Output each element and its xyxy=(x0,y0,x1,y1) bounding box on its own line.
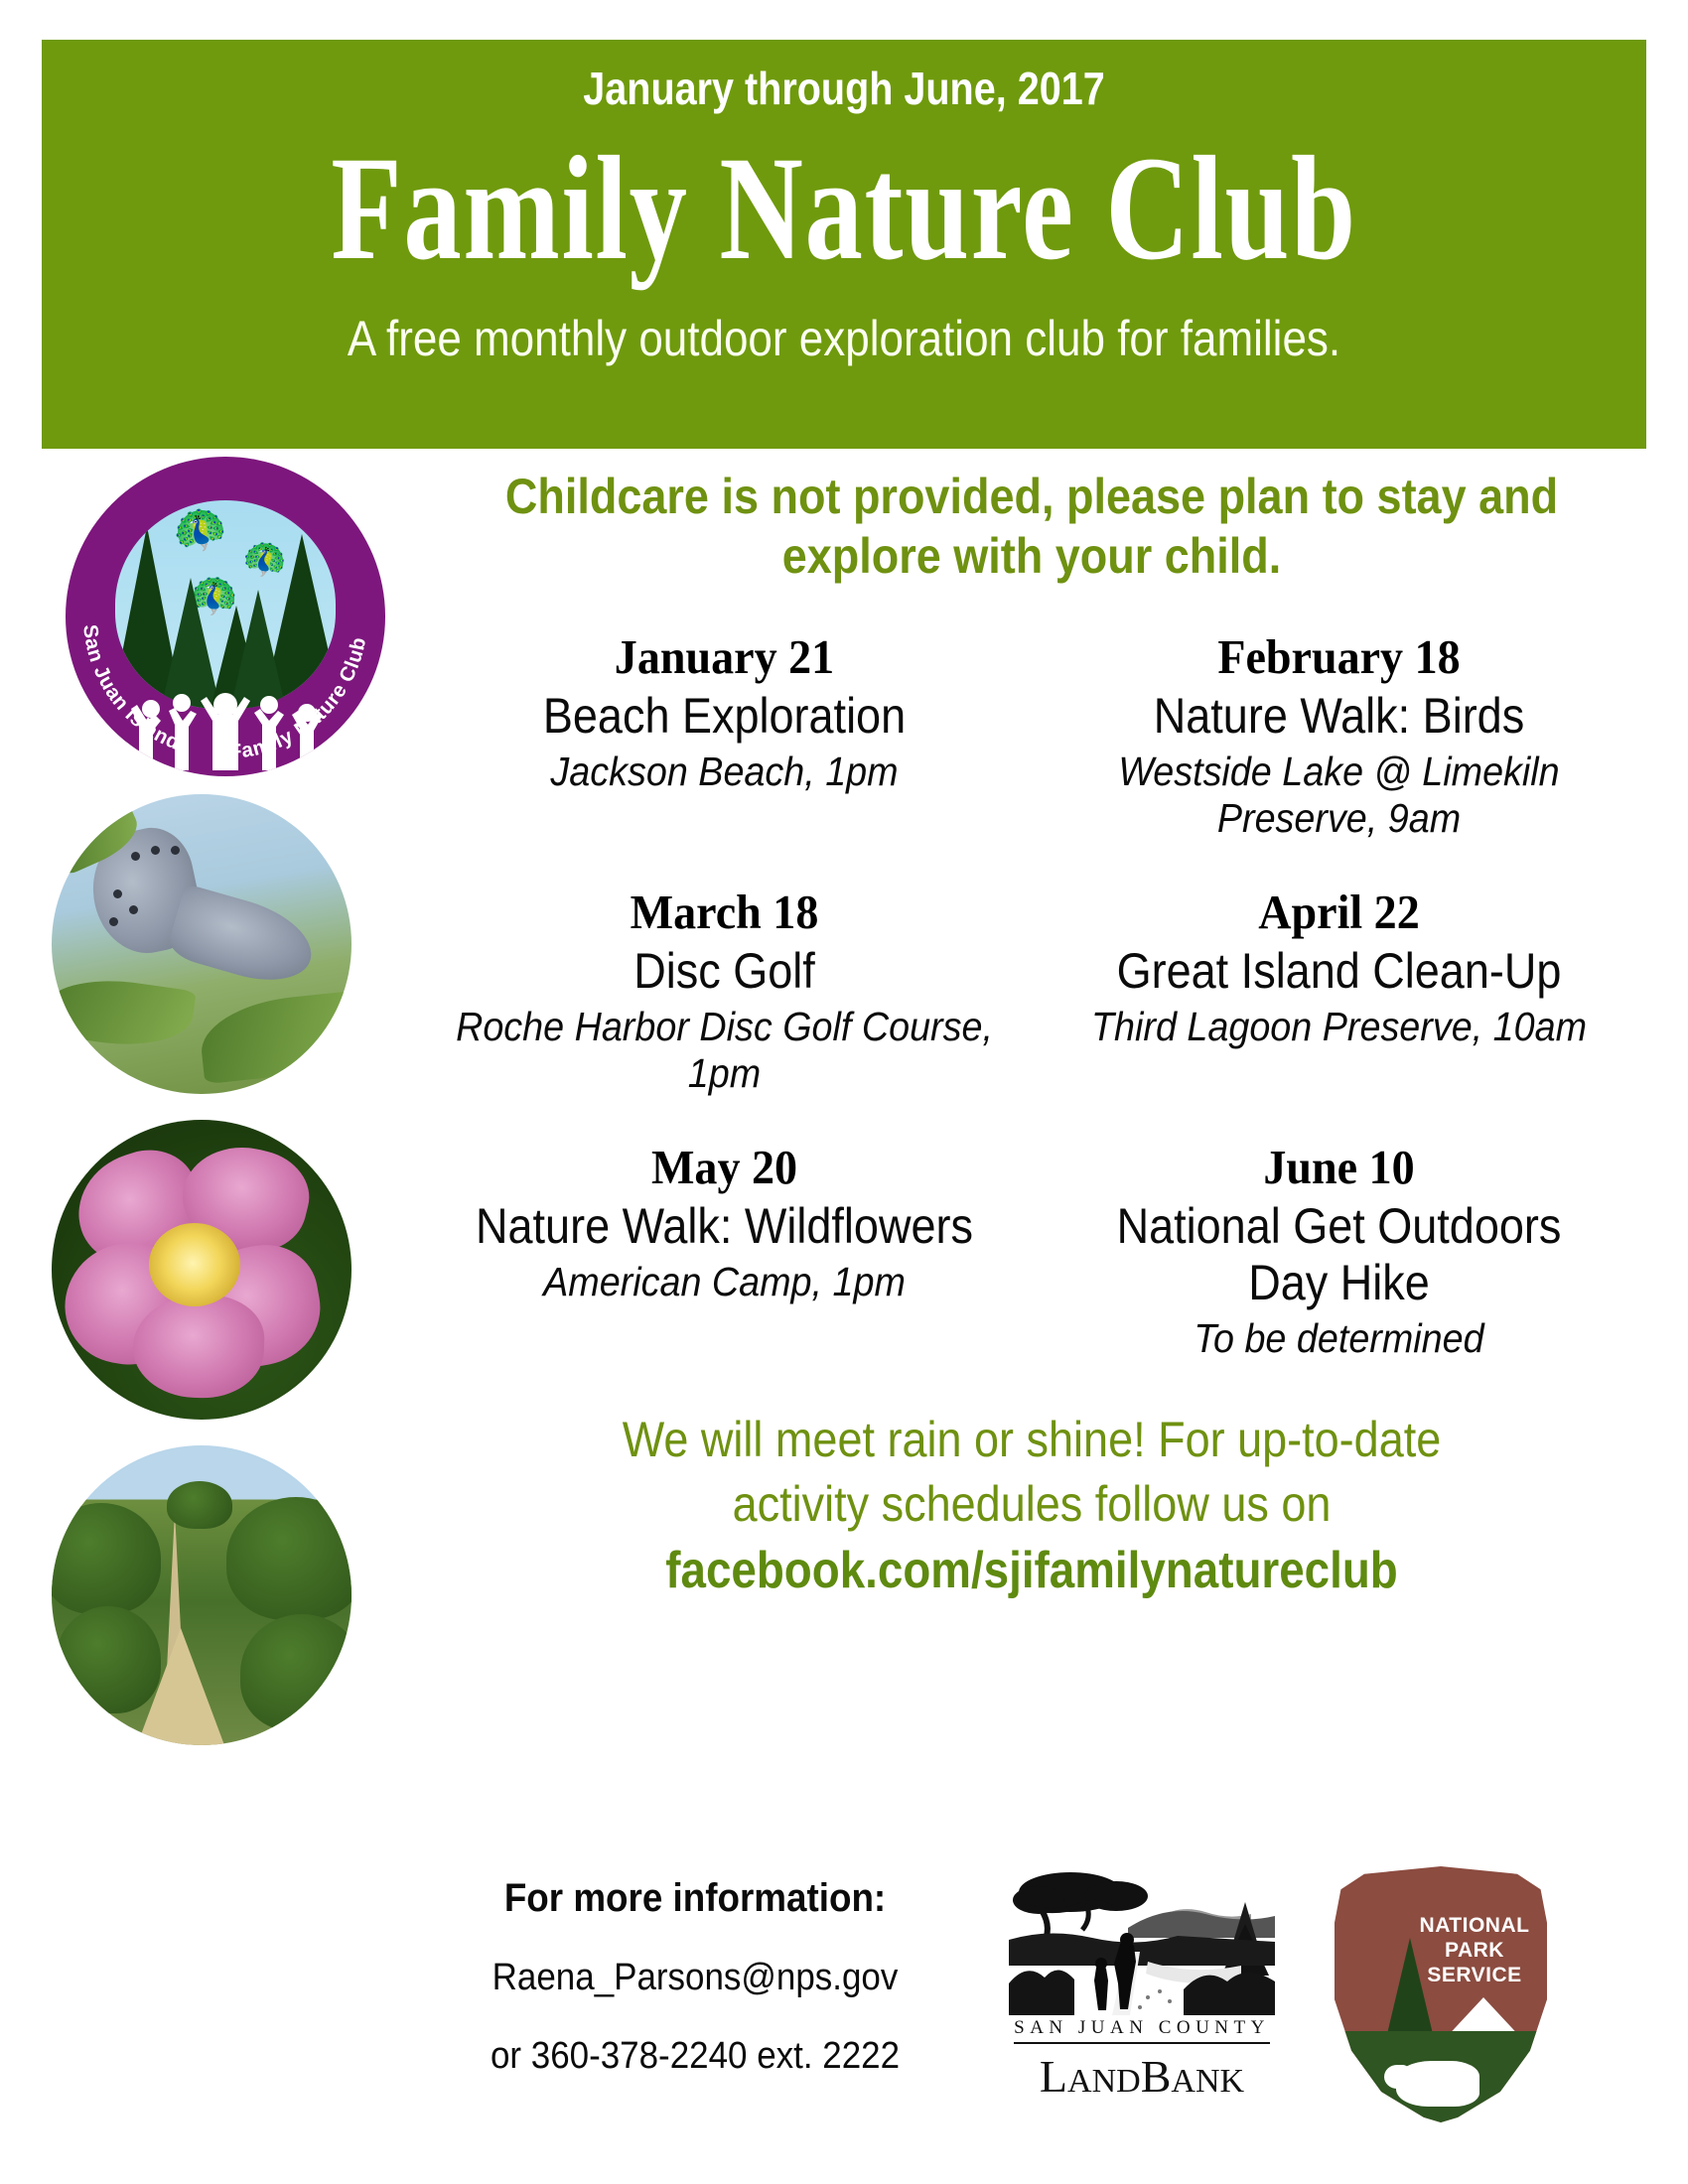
logo-ring-text-left: San Juan Island xyxy=(78,623,183,754)
event-title: Great Island Clean-Up xyxy=(1075,943,1604,1000)
event-card-january: January 21 Beach Exploration Jackson Bea… xyxy=(417,629,1032,843)
childcare-notice: Childcare is not provided, please plan t… xyxy=(479,467,1585,586)
wing-spot xyxy=(151,846,160,855)
event-title: National Get Outdoors Day Hike xyxy=(1075,1198,1604,1311)
event-location: Roche Harbor Disc Golf Course, 1pm xyxy=(455,1004,995,1098)
event-row: May 20 Nature Walk: Wildflowers American… xyxy=(417,1140,1646,1362)
trail-photo xyxy=(52,1445,352,1745)
wing-spot xyxy=(171,846,180,855)
event-title: Nature Walk: Wildflowers xyxy=(461,1198,989,1255)
nps-line-3: SERVICE xyxy=(1416,1964,1533,1988)
facebook-link[interactable]: facebook.com/sjifamilynatureclub xyxy=(491,1541,1572,1600)
event-schedule: January 21 Beach Exploration Jackson Bea… xyxy=(417,629,1646,1362)
main-content: Childcare is not provided, please plan t… xyxy=(417,467,1646,1600)
leaf xyxy=(52,971,197,1054)
butterfly-wing-right xyxy=(166,884,322,993)
event-card-may: May 20 Nature Walk: Wildflowers American… xyxy=(417,1140,1032,1362)
logo-ring-text-right: Family Nature Club xyxy=(228,635,370,763)
bison-icon xyxy=(1396,2061,1479,2107)
land-bank-county-label: SAN JUAN COUNTY xyxy=(1014,2017,1270,2044)
header-kicker: January through June, 2017 xyxy=(154,62,1534,116)
event-date: June 10 xyxy=(1063,1140,1616,1196)
left-media-column: 🦚 🦚 🦚 xyxy=(52,457,399,1771)
event-title: Nature Walk: Birds xyxy=(1075,688,1604,745)
wing-spot xyxy=(109,917,118,926)
leaf xyxy=(197,991,352,1084)
event-location: American Camp, 1pm xyxy=(455,1259,995,1306)
wing-spot xyxy=(113,889,122,898)
contact-email[interactable]: Raena_Parsons@nps.gov xyxy=(439,1957,950,1999)
event-card-march: March 18 Disc Golf Roche Harbor Disc Gol… xyxy=(417,885,1032,1098)
nps-shield: NATIONAL PARK SERVICE xyxy=(1335,1866,1547,2122)
nps-line-2: PARK xyxy=(1416,1939,1533,1964)
shrub xyxy=(52,1503,161,1614)
event-location: Jackson Beach, 1pm xyxy=(455,749,995,796)
logo-ring-text: San Juan Island Family Nature Club xyxy=(66,457,385,776)
header-subtitle: A free monthly outdoor exploration club … xyxy=(138,309,1550,368)
landbank-b: B xyxy=(1141,2051,1172,2102)
event-card-june: June 10 National Get Outdoors Day Hike T… xyxy=(1032,1140,1646,1362)
club-logo: 🦚 🦚 🦚 xyxy=(66,457,385,776)
event-row: January 21 Beach Exploration Jackson Bea… xyxy=(417,629,1646,843)
wing-spot xyxy=(131,852,140,861)
shrub xyxy=(167,1481,232,1529)
contact-block: For more information: Raena_Parsons@nps.… xyxy=(417,1866,973,2078)
rose-stamen-center xyxy=(149,1223,240,1306)
landbank-and: AND xyxy=(1067,2063,1141,2100)
rain-or-shine-line2: activity schedules follow us on xyxy=(479,1472,1585,1537)
contact-phone: or 360-378-2240 ext. 2222 xyxy=(439,2035,950,2078)
rain-or-shine-line1: We will meet rain or shine! For up-to-da… xyxy=(479,1408,1585,1472)
rain-or-shine-note: We will meet rain or shine! For up-to-da… xyxy=(479,1408,1585,1537)
landbank-ank: ANK xyxy=(1171,2063,1244,2100)
land-bank-logo: SAN JUAN COUNTY LANDBANK xyxy=(993,1866,1291,2103)
nps-wordmark: NATIONAL PARK SERVICE xyxy=(1416,1914,1533,1987)
footer: For more information: Raena_Parsons@nps.… xyxy=(417,1866,1646,2122)
event-date: February 18 xyxy=(1063,629,1616,686)
land-bank-woodcut-illustration xyxy=(1009,1866,1275,2015)
event-title: Beach Exploration xyxy=(461,688,989,745)
event-card-february: February 18 Nature Walk: Birds Westside … xyxy=(1032,629,1646,843)
wing-spot xyxy=(129,905,138,914)
nps-arrowhead-logo: NATIONAL PARK SERVICE xyxy=(1317,1866,1565,2122)
butterfly-photo xyxy=(52,794,352,1094)
event-date: January 21 xyxy=(449,629,1001,686)
contact-heading: For more information: xyxy=(439,1876,950,1921)
event-date: May 20 xyxy=(449,1140,1001,1196)
event-row: March 18 Disc Golf Roche Harbor Disc Gol… xyxy=(417,885,1646,1098)
wild-rose-photo xyxy=(52,1120,352,1420)
land-bank-wordmark: LANDBANK xyxy=(993,2050,1291,2103)
event-location: Westside Lake @ Limekiln Preserve, 9am xyxy=(1069,749,1610,843)
event-location: To be determined xyxy=(1069,1315,1610,1363)
event-card-april: April 22 Great Island Clean-Up Third Lag… xyxy=(1032,885,1646,1098)
event-location: Third Lagoon Preserve, 10am xyxy=(1069,1004,1610,1051)
nps-line-1: NATIONAL xyxy=(1416,1914,1533,1939)
event-date: April 22 xyxy=(1063,885,1616,941)
header-banner: January through June, 2017 Family Nature… xyxy=(42,40,1646,449)
shrub xyxy=(226,1497,352,1620)
shrub xyxy=(56,1606,161,1713)
page-title: Family Nature Club xyxy=(218,122,1470,295)
event-date: March 18 xyxy=(449,885,1001,941)
shrub xyxy=(240,1614,352,1731)
landbank-l: L xyxy=(1040,2051,1067,2102)
event-title: Disc Golf xyxy=(461,943,989,1000)
